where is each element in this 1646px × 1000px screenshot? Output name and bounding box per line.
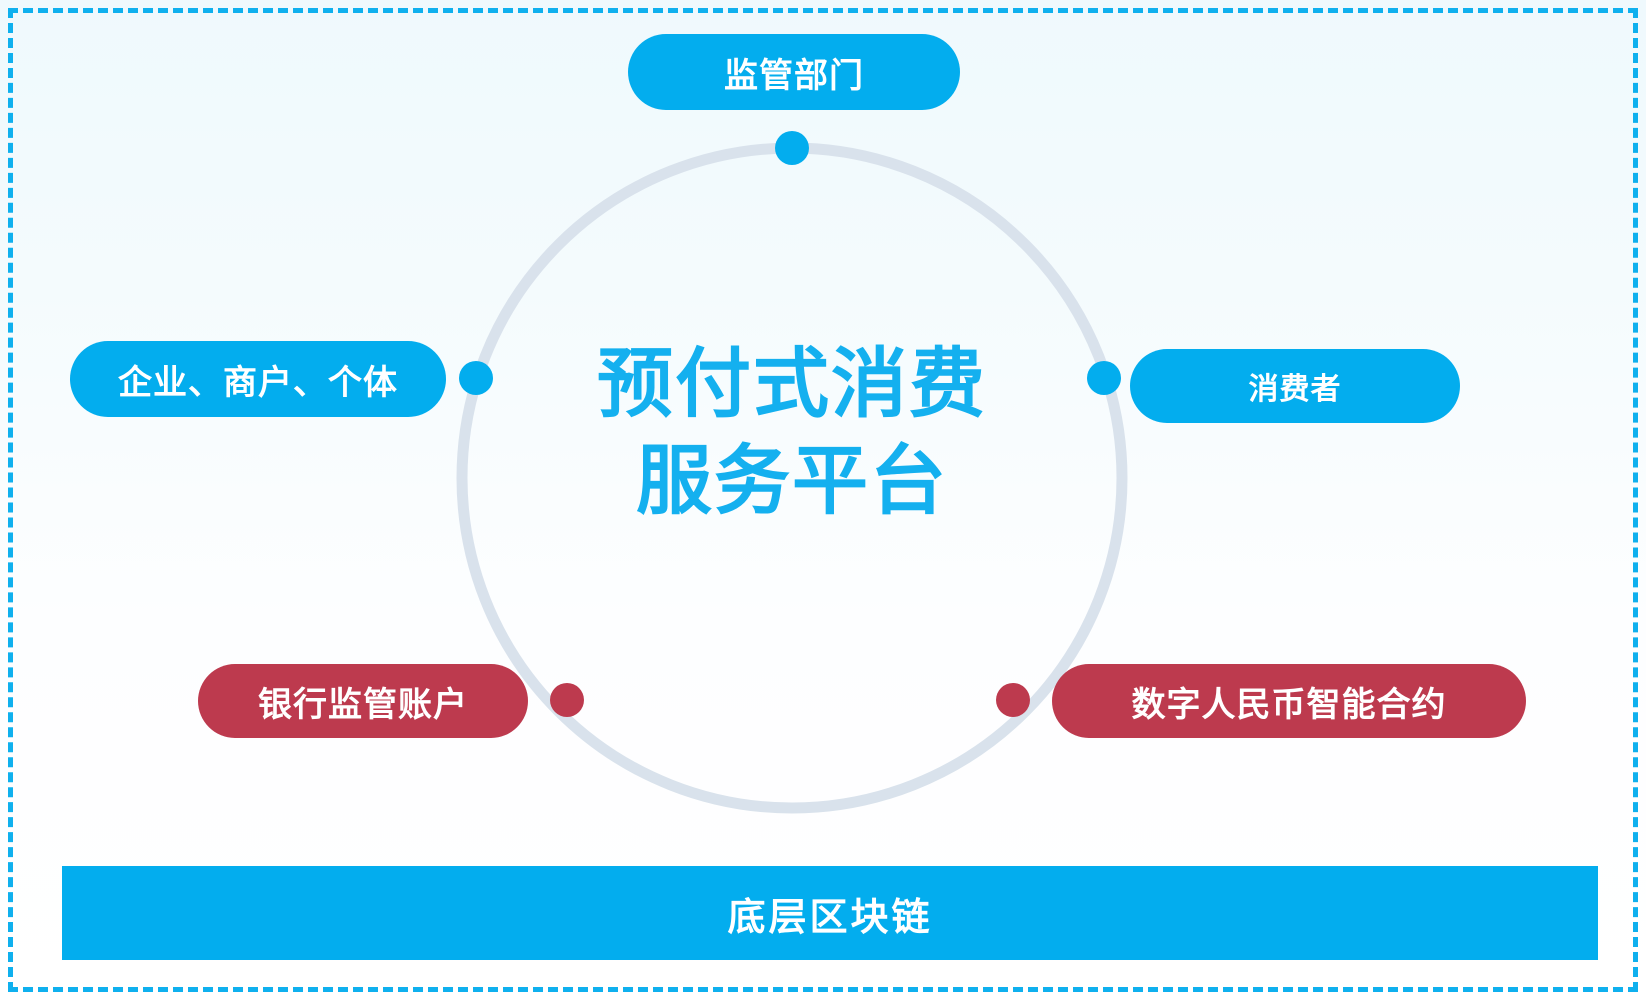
- connector-dot-smart-contract: [996, 683, 1030, 717]
- node-merchants-label: 企业、商户、个体: [118, 355, 398, 404]
- center-platform-title: 预付式消费 服务平台: [492, 336, 1092, 531]
- node-consumers-label: 消费者: [1249, 364, 1342, 408]
- foundation-blockchain-bar[interactable]: 底层区块链: [62, 866, 1598, 960]
- connector-dot-regulator: [775, 131, 809, 165]
- node-merchants[interactable]: 企业、商户、个体: [70, 341, 446, 417]
- node-digital-rmb-smart-contract[interactable]: 数字人民币智能合约: [1052, 664, 1526, 738]
- diagram-canvas: 预付式消费 服务平台 监管部门 企业、商户、个体 消费者 银行监管账户 数字人民…: [0, 0, 1646, 1000]
- connector-dot-consumers: [1087, 361, 1121, 395]
- node-bank-supervision-account[interactable]: 银行监管账户: [198, 664, 528, 738]
- node-regulator[interactable]: 监管部门: [628, 34, 960, 110]
- connector-dot-merchants: [459, 361, 493, 395]
- node-bank-supervision-account-label: 银行监管账户: [258, 677, 468, 726]
- connector-dot-bank: [550, 683, 584, 717]
- node-digital-rmb-smart-contract-label: 数字人民币智能合约: [1132, 677, 1447, 726]
- node-consumers[interactable]: 消费者: [1130, 349, 1460, 423]
- foundation-blockchain-label: 底层区块链: [727, 886, 932, 941]
- node-regulator-label: 监管部门: [724, 48, 864, 97]
